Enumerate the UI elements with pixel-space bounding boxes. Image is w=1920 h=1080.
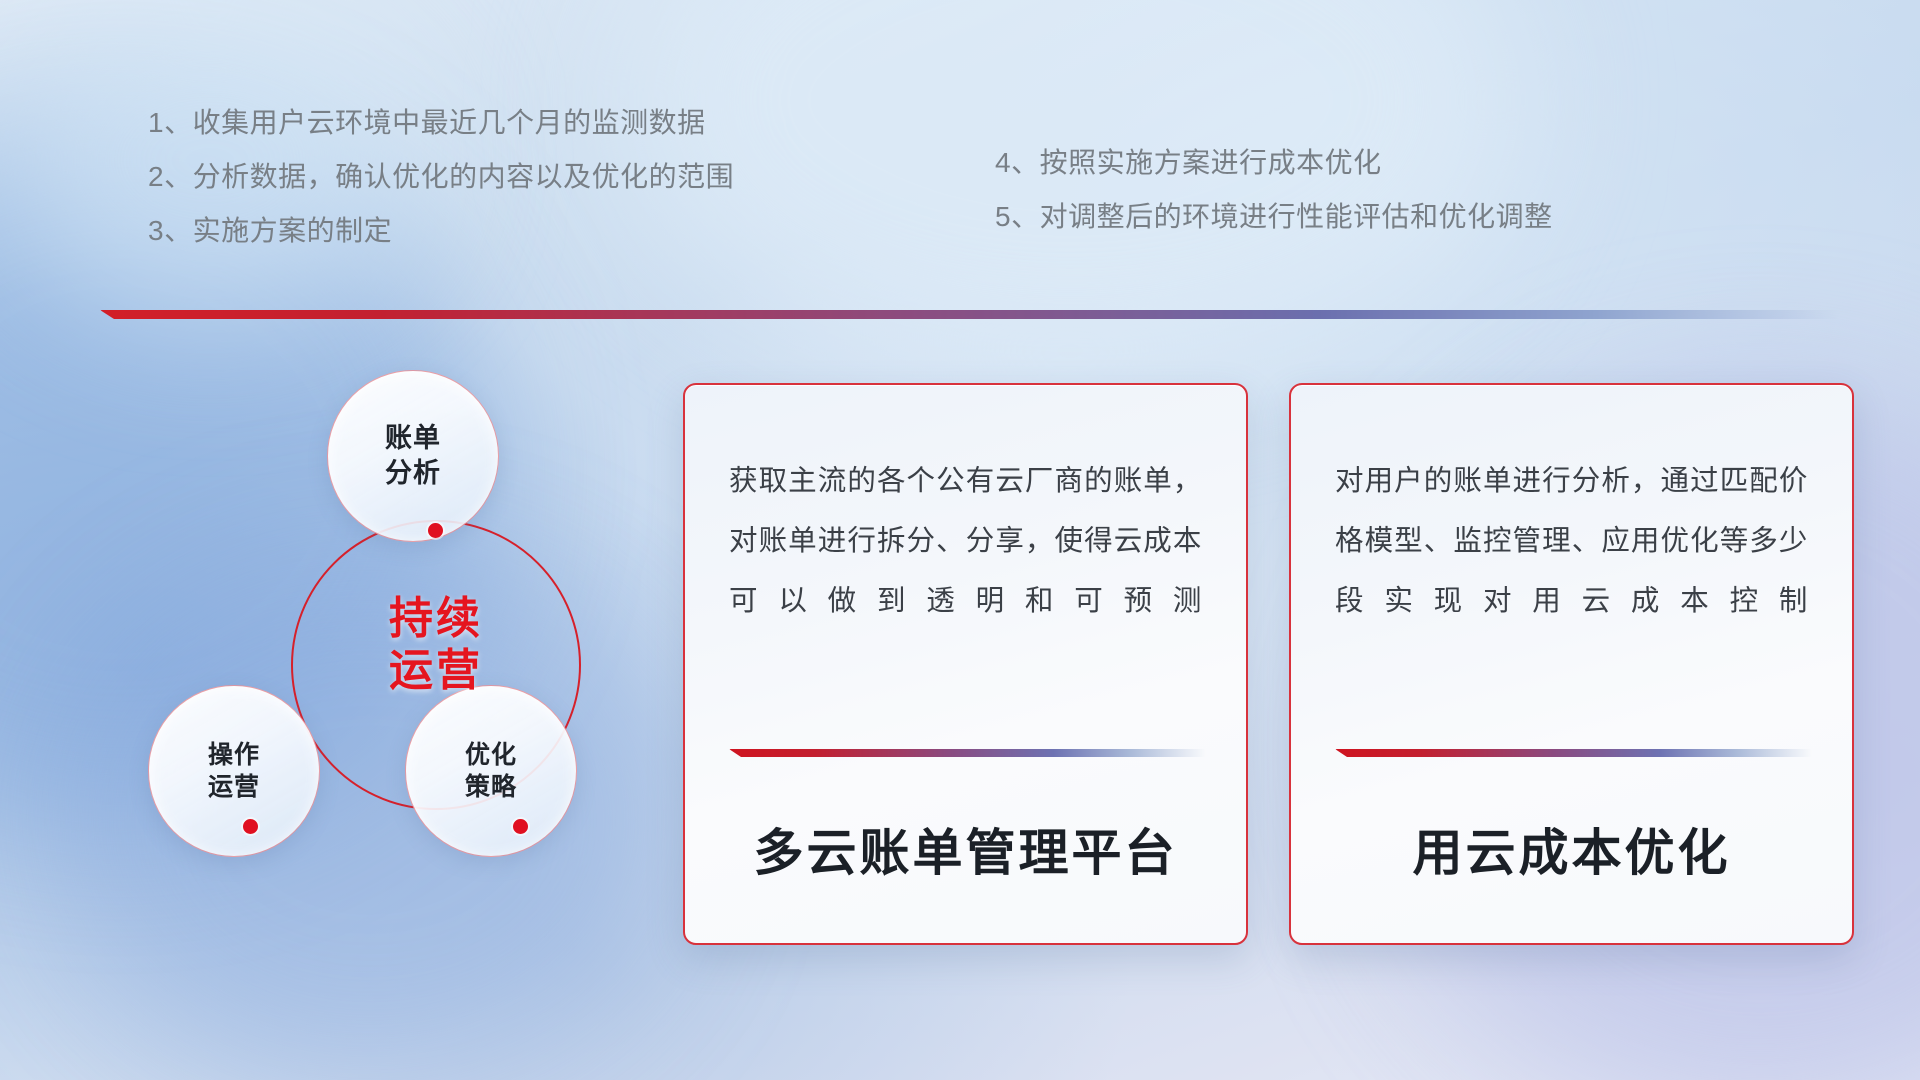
diagram-node-operations[interactable]: 操作 运营 [148, 685, 320, 857]
diagram-node-optimization[interactable]: 优化 策略 [405, 685, 577, 857]
card-multi-cloud-billing-platform-divider [729, 749, 1206, 757]
section-divider-rule [100, 310, 1840, 319]
card-multi-cloud-billing-platform-body: 获取主流的各个公有云厂商的账单，对账单进行拆分、分享，使得云成本可以做到透明和可… [729, 451, 1202, 631]
process-steps: 1、收集用户云环境中最近几个月的监测数据 2、分析数据，确认优化的内容以及优化的… [0, 96, 1920, 256]
diagram-connector-dot-bottom-left [243, 819, 258, 834]
diagram-connector-dot-bottom-right [513, 819, 528, 834]
diagram-node-optimization-label: 优化 策略 [465, 739, 517, 803]
card-cloud-cost-optimization-title: 用云成本优化 [1291, 813, 1852, 885]
process-steps-right-column: 4、按照实施方案进行成本优化 5、对调整后的环境进行性能评估和优化调整 [995, 136, 1553, 244]
continuous-operations-diagram: 账单 分析 操作 运营 优化 策略 持续 运营 [95, 355, 565, 915]
diagram-node-billing-analysis[interactable]: 账单 分析 [327, 370, 499, 542]
diagram-node-operations-label: 操作 运营 [208, 739, 260, 803]
process-steps-left-column: 1、收集用户云环境中最近几个月的监测数据 2、分析数据，确认优化的内容以及优化的… [148, 96, 734, 258]
card-multi-cloud-billing-platform[interactable]: 获取主流的各个公有云厂商的账单，对账单进行拆分、分享，使得云成本可以做到透明和可… [683, 383, 1248, 945]
card-multi-cloud-billing-platform-title: 多云账单管理平台 [685, 813, 1246, 885]
slide-canvas: 1、收集用户云环境中最近几个月的监测数据 2、分析数据，确认优化的内容以及优化的… [0, 0, 1920, 1080]
diagram-connector-dot-top [428, 523, 443, 538]
diagram-center-label: 持续 运营 [291, 593, 581, 697]
card-cloud-cost-optimization[interactable]: 对用户的账单进行分析，通过匹配价格模型、监控管理、应用优化等多少段实现对用云成本… [1289, 383, 1854, 945]
process-step-2: 2、分析数据，确认优化的内容以及优化的范围 [148, 150, 734, 204]
card-cloud-cost-optimization-body: 对用户的账单进行分析，通过匹配价格模型、监控管理、应用优化等多少段实现对用云成本… [1335, 451, 1808, 631]
process-step-4: 4、按照实施方案进行成本优化 [995, 136, 1553, 190]
card-cloud-cost-optimization-divider [1335, 749, 1812, 757]
diagram-node-billing-analysis-label: 账单 分析 [385, 421, 441, 490]
process-step-1: 1、收集用户云环境中最近几个月的监测数据 [148, 96, 734, 150]
process-step-5: 5、对调整后的环境进行性能评估和优化调整 [995, 190, 1553, 244]
process-step-3: 3、实施方案的制定 [148, 204, 734, 258]
